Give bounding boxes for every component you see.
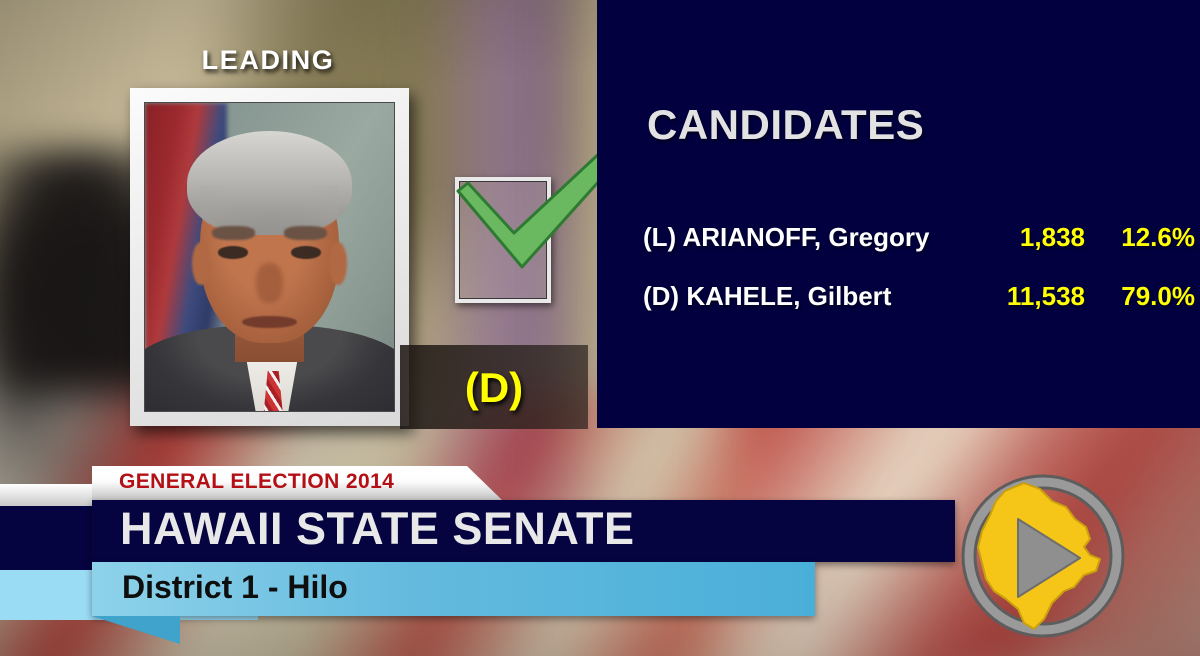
candidate-name: (D) KAHELE, Gilbert bbox=[643, 281, 891, 312]
banner-kicker-bar: GENERAL ELECTION 2014 bbox=[92, 466, 502, 500]
big-island-play-logo bbox=[948, 463, 1138, 649]
portrait-eye-left bbox=[218, 246, 248, 258]
lower-third-banner: GENERAL ELECTION 2014 HAWAII STATE SENAT… bbox=[92, 466, 962, 624]
candidate-percent: 12.6% bbox=[1095, 222, 1195, 253]
candidates-list: (L) ARIANOFF, Gregory 1,838 12.6% (D) KA… bbox=[635, 222, 1195, 340]
candidates-heading: CANDIDATES bbox=[647, 101, 924, 149]
portrait-ear-left bbox=[192, 242, 209, 285]
candidate-votes: 1,838 bbox=[945, 222, 1085, 253]
banner-title: HAWAII STATE SENATE bbox=[120, 503, 635, 555]
candidate-portrait-frame bbox=[130, 88, 409, 426]
candidate-row: (D) KAHELE, Gilbert 11,538 79.0% bbox=[635, 281, 1195, 340]
portrait-ear-right bbox=[329, 242, 346, 285]
banner-title-bar: HAWAII STATE SENATE bbox=[92, 500, 955, 562]
banner-kicker: GENERAL ELECTION 2014 bbox=[119, 470, 394, 494]
leading-label: LEADING bbox=[123, 45, 413, 76]
candidate-row: (L) ARIANOFF, Gregory 1,838 12.6% bbox=[635, 222, 1195, 281]
portrait-brow-left bbox=[212, 226, 254, 240]
banner-subtitle: District 1 - Hilo bbox=[122, 569, 348, 606]
candidates-panel: CANDIDATES (L) ARIANOFF, Gregory 1,838 1… bbox=[597, 0, 1200, 428]
banner-subtitle-bar: District 1 - Hilo bbox=[92, 562, 815, 616]
portrait-brow-right bbox=[284, 226, 326, 240]
portrait-hair bbox=[187, 131, 351, 236]
party-badge: (D) bbox=[400, 345, 588, 429]
ballot-checkbox-icon bbox=[455, 177, 551, 303]
candidate-votes: 11,538 bbox=[945, 281, 1085, 312]
candidate-name: (L) ARIANOFF, Gregory bbox=[643, 222, 929, 253]
candidate-portrait bbox=[144, 102, 395, 412]
election-results-graphic: LEADING (D) CANDIDATES bbox=[0, 0, 1200, 656]
portrait-eye-right bbox=[291, 246, 321, 258]
portrait-nose bbox=[256, 263, 283, 303]
party-badge-label: (D) bbox=[400, 364, 588, 412]
candidate-percent: 79.0% bbox=[1095, 281, 1195, 312]
